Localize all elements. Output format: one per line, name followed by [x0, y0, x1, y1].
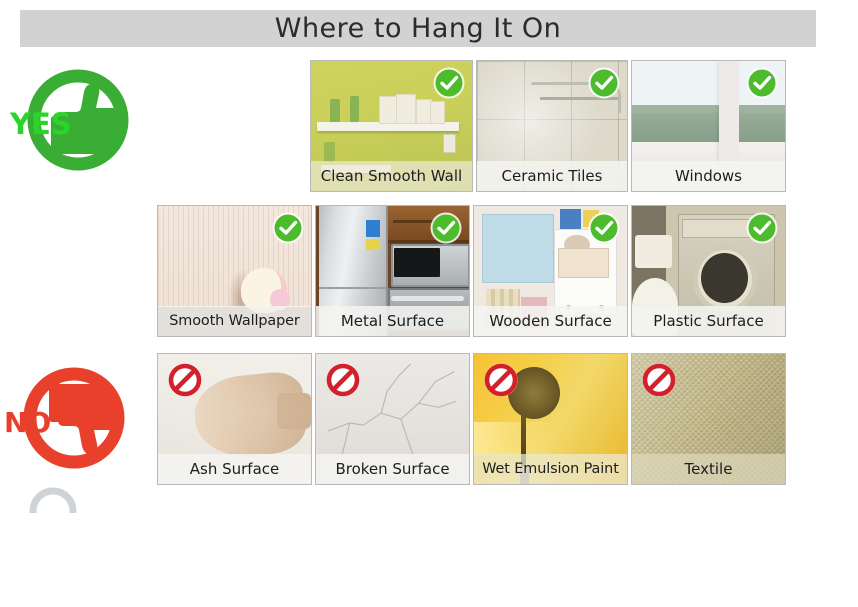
surface-card-plastic-surface[interactable]: Plastic Surface [631, 205, 786, 337]
green-check-circle-icon [587, 66, 621, 100]
thumbs-down-circle-icon: NO [0, 358, 138, 478]
surface-card-ceramic-tiles[interactable]: Ceramic Tiles [476, 60, 628, 192]
surface-card-metal-surface[interactable]: Metal Surface [315, 205, 470, 337]
green-check-circle-icon [432, 66, 466, 100]
card-label: Ceramic Tiles [477, 161, 627, 191]
circle-icon-cropped [8, 487, 98, 513]
card-label: Wet Emulsion Paint [474, 454, 627, 484]
red-prohibition-icon [166, 361, 204, 399]
surface-card-smooth-wallpaper[interactable]: Smooth Wallpaper [157, 205, 312, 337]
surface-card-wet-emulsion-paint[interactable]: Wet Emulsion Paint [473, 353, 628, 485]
card-label: Windows [632, 161, 785, 191]
surface-card-ash-surface[interactable]: Ash Surface [157, 353, 312, 485]
page-title: Where to Hang It On [275, 13, 562, 44]
verdict-partial-cropped [8, 487, 158, 607]
red-prohibition-icon [482, 361, 520, 399]
poster-root: Where to Hang It On YES NO [0, 0, 858, 506]
verdict-yes: YES [0, 62, 146, 182]
card-label: Wooden Surface [474, 306, 627, 336]
card-label: Metal Surface [316, 306, 469, 336]
surface-card-broken-surface[interactable]: Broken Surface [315, 353, 470, 485]
card-label: Clean Smooth Wall [311, 161, 472, 191]
svg-text:YES: YES [9, 107, 72, 141]
card-label: Ash Surface [158, 454, 311, 484]
card-label: Plastic Surface [632, 306, 785, 336]
verdict-no: NO [0, 358, 138, 478]
red-prohibition-icon [640, 361, 678, 399]
surface-card-clean-smooth-wall[interactable]: Clean Smooth Wall [310, 60, 473, 192]
surface-card-textile[interactable]: Textile [631, 353, 786, 485]
page-title-bar: Where to Hang It On [20, 10, 816, 47]
card-label: Textile [632, 454, 785, 484]
surface-card-wooden-surface[interactable]: Wooden Surface [473, 205, 628, 337]
svg-text:NO: NO [4, 406, 51, 439]
card-label: Broken Surface [316, 454, 469, 484]
thumbs-up-circle-icon: YES [0, 62, 146, 182]
green-check-circle-icon [745, 211, 779, 245]
card-label: Smooth Wallpaper [158, 306, 311, 336]
green-check-circle-icon [271, 211, 305, 245]
green-check-circle-icon [745, 66, 779, 100]
green-check-circle-icon [587, 211, 621, 245]
red-prohibition-icon [324, 361, 362, 399]
surface-card-windows[interactable]: Windows [631, 60, 786, 192]
green-check-circle-icon [429, 211, 463, 245]
